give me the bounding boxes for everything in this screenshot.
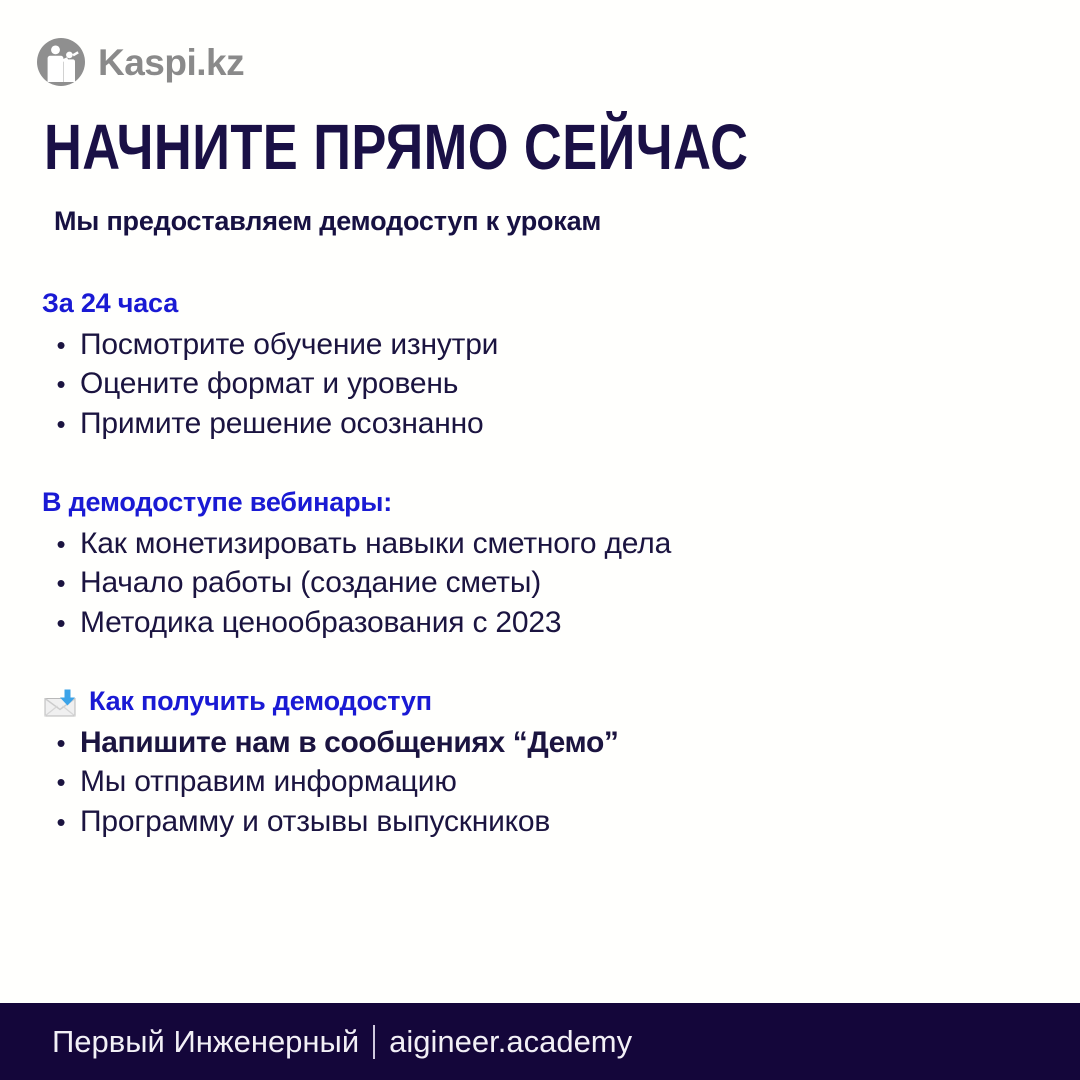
content-sections: За 24 часа • Посмотрите обучение изнутри… (42, 288, 1050, 841)
list-item-text: Мы отправим информацию (80, 762, 457, 801)
bullet-dot-icon: • (42, 726, 80, 760)
list-item: • Напишите нам в сообщениях “Демо” (42, 723, 1050, 762)
bullet-dot-icon: • (42, 328, 80, 362)
list-item: • Оцените формат и уровень (42, 364, 1050, 403)
bullet-list: • Как монетизировать навыки сметного дел… (42, 524, 1050, 642)
section-heading-label: В демодоступе вебинары: (42, 487, 392, 518)
list-item: • Начало работы (создание сметы) (42, 563, 1050, 602)
bullet-list: • Напишите нам в сообщениях “Демо” • Мы … (42, 723, 1050, 841)
footer-website[interactable]: aigineer.academy (389, 1024, 632, 1060)
list-item-text: Начало работы (создание сметы) (80, 563, 541, 602)
page-subtitle: Мы предоставляем демодоступ к урокам (54, 206, 601, 237)
list-item: • Программу и отзывы выпускников (42, 802, 1050, 841)
inbox-tray-envelope-icon (42, 688, 80, 718)
kaspi-family-logo-icon (33, 34, 89, 90)
list-item-text: Примите решение осознанно (80, 404, 483, 443)
bullet-dot-icon: • (42, 367, 80, 401)
bullet-dot-icon: • (42, 527, 80, 561)
list-item-text: Программу и отзывы выпускников (80, 802, 550, 841)
kaspi-brand-logo: Kaspi.kz (33, 34, 244, 90)
list-item: • Как монетизировать навыки сметного дел… (42, 524, 1050, 563)
footer-bar: Первый Инженерный aigineer.academy (0, 1003, 1080, 1080)
bullet-dot-icon: • (42, 805, 80, 839)
list-item: • Примите решение осознанно (42, 404, 1050, 443)
page-title: НАЧНИТЕ ПРЯМО СЕЙЧАС (44, 115, 748, 179)
footer-separator-icon (373, 1025, 375, 1059)
list-item-text: Как монетизировать навыки сметного дела (80, 524, 671, 563)
section-heading-label: За 24 часа (42, 288, 178, 319)
footer-content: Первый Инженерный aigineer.academy (52, 1024, 632, 1060)
section-heading: В демодоступе вебинары: (42, 487, 1050, 518)
slide-canvas: Kaspi.kz НАЧНИТЕ ПРЯМО СЕЙЧАС Мы предост… (0, 0, 1080, 1080)
section-24-hours: За 24 часа • Посмотрите обучение изнутри… (42, 288, 1050, 443)
bullet-list: • Посмотрите обучение изнутри • Оцените … (42, 325, 1050, 443)
bullet-dot-icon: • (42, 606, 80, 640)
list-item-text: Методика ценообразования с 2023 (80, 603, 561, 642)
bullet-dot-icon: • (42, 407, 80, 441)
section-webinars: В демодоступе вебинары: • Как монетизиро… (42, 487, 1050, 642)
section-heading-label: Как получить демодоступ (89, 686, 432, 717)
list-item-text: Напишите нам в сообщениях “Демо” (80, 723, 618, 762)
kaspi-brand-name: Kaspi.kz (98, 44, 244, 81)
list-item: • Посмотрите обучение изнутри (42, 325, 1050, 364)
footer-brand: Первый Инженерный (52, 1024, 359, 1060)
list-item: • Мы отправим информацию (42, 762, 1050, 801)
section-heading: Как получить демодоступ (42, 686, 1050, 717)
list-item-text: Посмотрите обучение изнутри (80, 325, 498, 364)
section-how-to-get-demo: Как получить демодоступ • Напишите нам в… (42, 686, 1050, 841)
section-heading: За 24 часа (42, 288, 1050, 319)
list-item: • Методика ценообразования с 2023 (42, 603, 1050, 642)
list-item-text: Оцените формат и уровень (80, 364, 458, 403)
bullet-dot-icon: • (42, 765, 80, 799)
bullet-dot-icon: • (42, 566, 80, 600)
